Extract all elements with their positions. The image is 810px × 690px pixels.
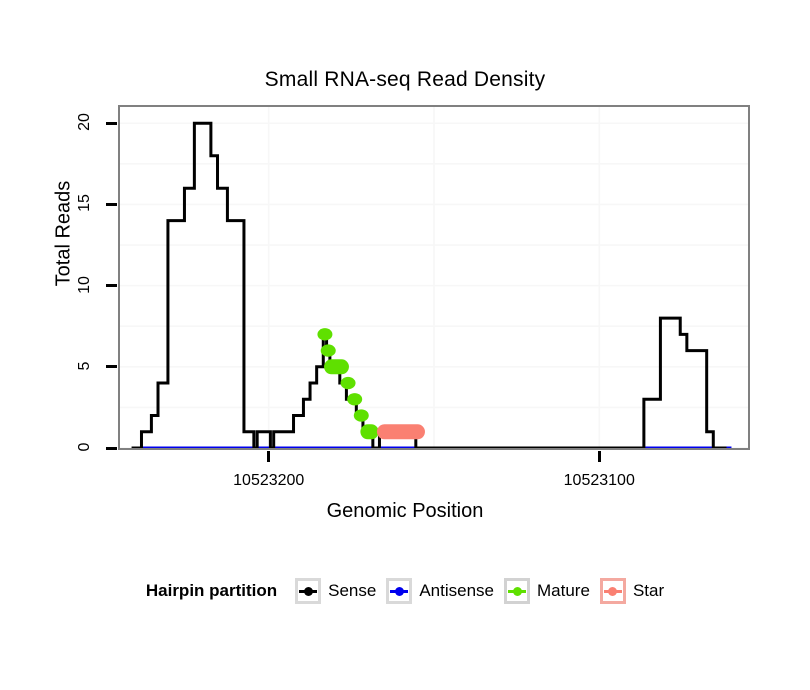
plot-area — [120, 107, 748, 448]
chart-figure: Small RNA-seq Read Density Total Reads 0… — [0, 0, 810, 690]
legend-key-antisense-icon — [386, 578, 412, 604]
legend-label: Antisense — [419, 581, 494, 601]
legend-title: Hairpin partition — [146, 581, 277, 601]
y-tick-label: 5 — [76, 349, 94, 383]
legend-label: Star — [633, 581, 664, 601]
legend-key-dot — [304, 587, 313, 596]
legend-key-dot — [513, 587, 522, 596]
x-tick-mark — [267, 451, 270, 462]
legend-entry[interactable]: Sense — [295, 578, 376, 604]
y-tick-mark — [106, 203, 117, 206]
legend-key-mature-icon — [504, 578, 530, 604]
legend-entry[interactable]: Mature — [504, 578, 590, 604]
x-tick-mark — [598, 451, 601, 462]
legend: Hairpin partition SenseAntisenseMatureSt… — [0, 578, 810, 604]
series-marker-mature — [321, 344, 336, 356]
legend-entries: SenseAntisenseMatureStar — [295, 578, 664, 604]
y-tick-label: 10 — [76, 268, 94, 302]
series-marker-mature — [347, 393, 362, 405]
x-tick-label: 10523100 — [534, 472, 664, 490]
legend-key-sense-icon — [295, 578, 321, 604]
y-tick-mark — [106, 122, 117, 125]
legend-label: Sense — [328, 581, 376, 601]
y-tick-label: 0 — [76, 430, 94, 464]
legend-entry[interactable]: Star — [600, 578, 664, 604]
legend-key-dot — [608, 587, 617, 596]
x-axis-title: Genomic Position — [0, 500, 810, 523]
y-axis-title: Total Reads — [53, 154, 76, 314]
y-tick-label: 15 — [76, 186, 94, 220]
series-marker-mature — [341, 377, 356, 389]
chart-title: Small RNA-seq Read Density — [0, 68, 810, 92]
x-tick-label: 10523200 — [204, 472, 334, 490]
y-tick-mark — [106, 447, 117, 450]
y-tick-mark — [106, 284, 117, 287]
y-tick-mark — [106, 365, 117, 368]
series-marker-mature — [354, 409, 369, 421]
legend-label: Mature — [537, 581, 590, 601]
legend-key-dot — [395, 587, 404, 596]
legend-entry[interactable]: Antisense — [386, 578, 494, 604]
legend-key-star-icon — [600, 578, 626, 604]
plot-panel — [118, 105, 750, 450]
series-marker-mature — [317, 328, 332, 340]
y-tick-label: 20 — [76, 105, 94, 139]
